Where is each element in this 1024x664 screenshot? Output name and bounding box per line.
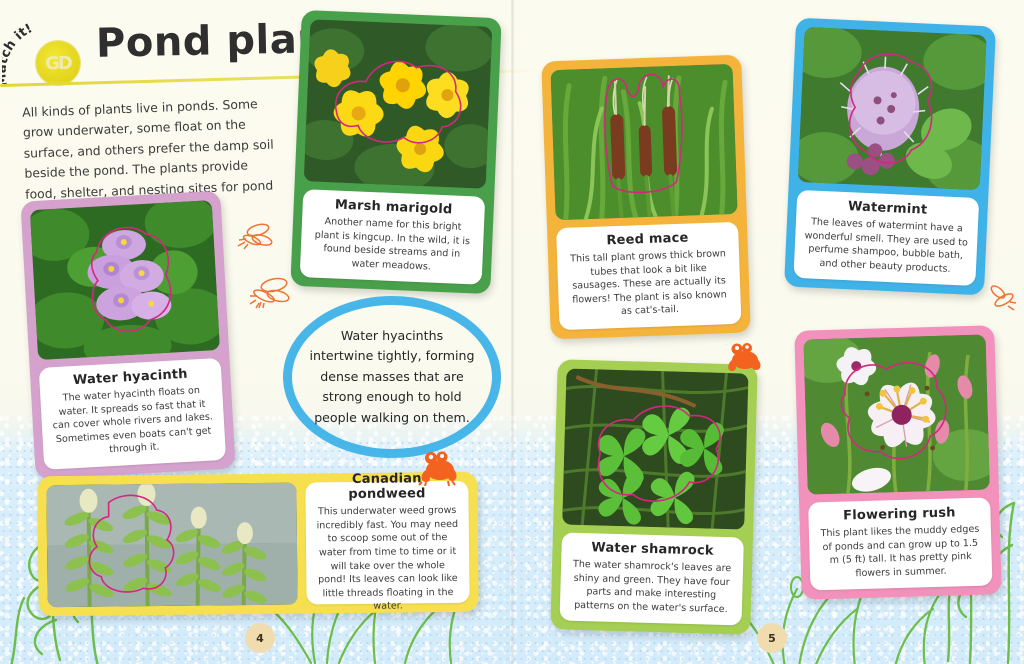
card-body: This tall plant grows thick brown tubes … [566, 247, 732, 321]
book-spread: Match it! GD Pond plants All kinds of pl… [0, 0, 1024, 664]
series-label: Match it! [2, 22, 35, 88]
card-body: Another name for this bright plant is ki… [309, 215, 475, 276]
card-photo-water-hyacinth [30, 200, 220, 360]
book-gutter [511, 0, 514, 664]
card-photo-flowering-rush [804, 335, 990, 495]
match-outline-watermint [798, 27, 987, 190]
card-photo-water-shamrock [562, 369, 748, 530]
card-water-shamrock[interactable]: Water shamrock The water shamrock's leav… [550, 359, 757, 635]
card-title: Flowering rush [817, 505, 981, 525]
match-it-logo: Match it! GD [8, 14, 100, 92]
card-photo-watermint [798, 27, 987, 190]
match-outline-water-shamrock [562, 369, 748, 530]
match-outline-marsh-marigold [304, 19, 493, 188]
match-outline-canadian-pondweed [46, 483, 297, 608]
match-outline-reed-mace [551, 64, 738, 220]
frog-icon [418, 448, 460, 486]
card-photo-marsh-marigold [304, 19, 493, 188]
page-number-right: 5 [757, 623, 787, 653]
insect-icon [234, 220, 278, 254]
card-watermint[interactable]: Watermint The leaves of watermint have a… [784, 18, 996, 296]
fact-bubble-text: Water hyacinths intertwine tightly, form… [283, 296, 501, 458]
card-photo-canadian-pondweed [46, 483, 297, 608]
card-reed-mace[interactable]: Reed mace This tall plant grows thick br… [541, 55, 751, 340]
card-photo-reed-mace [551, 64, 738, 220]
card-body: This plant likes the muddy edges of pond… [818, 523, 983, 582]
logo-monogram: GD [36, 41, 80, 85]
card-label-watermint: Watermint The leaves of watermint have a… [793, 190, 979, 287]
card-label-canadian-pondweed: Canadian pondweed This underwater weed g… [305, 481, 469, 605]
card-flowering-rush[interactable]: Flowering rush This plant likes the mudd… [794, 325, 1001, 600]
card-label-water-shamrock: Water shamrock The water shamrock's leav… [560, 532, 744, 625]
card-label-marsh-marigold: Marsh marigold Another name for this bri… [300, 189, 486, 285]
card-body: This underwater weed grows incredibly fa… [316, 504, 460, 614]
fact-bubble: Water hyacinths intertwine tightly, form… [283, 296, 501, 458]
card-body: The leaves of watermint have a wonderful… [803, 215, 969, 277]
insect-icon [988, 282, 1024, 316]
match-outline-water-hyacinth [30, 200, 220, 360]
card-body: The water hyacinth floats on water. It s… [49, 383, 217, 460]
frog-icon [725, 340, 765, 376]
match-outline-flowering-rush [804, 335, 990, 495]
page-number-value: 4 [256, 632, 264, 645]
card-body: The water shamrock's leaves are shiny an… [569, 558, 734, 617]
card-water-hyacinth[interactable]: Water hyacinth The water hyacinth floats… [20, 191, 235, 480]
card-label-flowering-rush: Flowering rush This plant likes the mudd… [808, 497, 992, 590]
card-canadian-pondweed[interactable]: Canadian pondweed This underwater weed g… [37, 472, 478, 617]
card-title: Reed mace [565, 229, 729, 250]
card-marsh-marigold[interactable]: Marsh marigold Another name for this bri… [290, 10, 501, 295]
svg-text:Match it!: Match it! [2, 22, 35, 88]
card-title: Water shamrock [570, 540, 734, 560]
card-label-water-hyacinth: Water hyacinth The water hyacinth floats… [39, 358, 226, 470]
page-number-left: 4 [245, 623, 275, 653]
card-label-reed-mace: Reed mace This tall plant grows thick br… [556, 222, 741, 330]
page-number-value: 5 [768, 632, 776, 645]
insect-icon [248, 272, 296, 310]
